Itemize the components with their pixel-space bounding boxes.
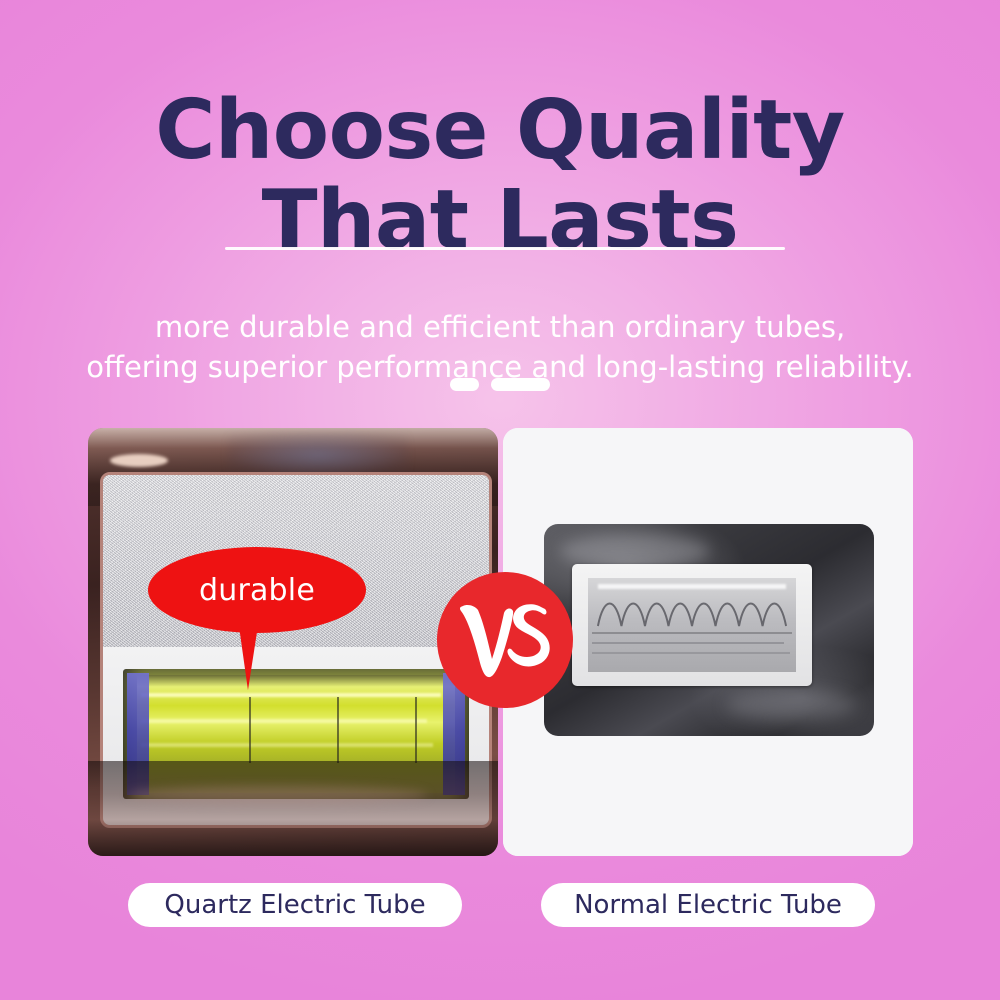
tube-window-inner <box>588 578 796 672</box>
label-normal-electric-tube: Normal Electric Tube <box>541 883 875 927</box>
label-quartz-electric-tube: Quartz Electric Tube <box>128 883 462 927</box>
tube-streak <box>141 743 433 747</box>
promo-poster: Choose Quality That Lasts more durable a… <box>0 0 1000 1000</box>
tube-support-wire <box>249 697 251 763</box>
filament-line <box>592 642 784 644</box>
tube-streak <box>141 693 441 697</box>
decor-dot-short <box>450 378 479 391</box>
dark-housing <box>544 524 874 736</box>
divider <box>225 247 785 250</box>
tube-support-wire <box>415 697 417 763</box>
callout-bubble: durable <box>148 547 366 633</box>
callout-label: durable <box>199 573 315 608</box>
white-window-frame <box>572 564 812 686</box>
housing-gloss-bottom <box>88 761 498 856</box>
decor-dot-long <box>491 378 550 391</box>
label-quartz-text: Quartz Electric Tube <box>164 890 425 920</box>
housing-specular-highlight <box>110 454 168 467</box>
tube-support-wire <box>337 697 339 763</box>
heating-coil-icon <box>594 594 790 628</box>
headline-line-1: Choose Quality <box>0 91 1000 171</box>
subtitle: more durable and efficient than ordinary… <box>0 307 1000 387</box>
filament-highlight <box>598 584 786 589</box>
label-normal-text: Normal Electric Tube <box>574 890 842 920</box>
decor-dots <box>0 378 1000 391</box>
vs-badge <box>437 572 573 708</box>
page-title: Choose Quality That Lasts <box>0 91 1000 262</box>
subtitle-line-1: more durable and efficient than ordinary… <box>0 307 1000 347</box>
housing-sheen-secondary <box>726 690 856 720</box>
filament-line <box>592 652 790 654</box>
housing-sheen <box>560 534 710 568</box>
durable-callout-badge: durable <box>148 547 366 633</box>
vs-badge-glyph <box>457 597 553 683</box>
housing-gloss-bottom-streak <box>128 786 428 804</box>
filament-line <box>592 632 792 634</box>
tube-streak <box>141 719 427 723</box>
